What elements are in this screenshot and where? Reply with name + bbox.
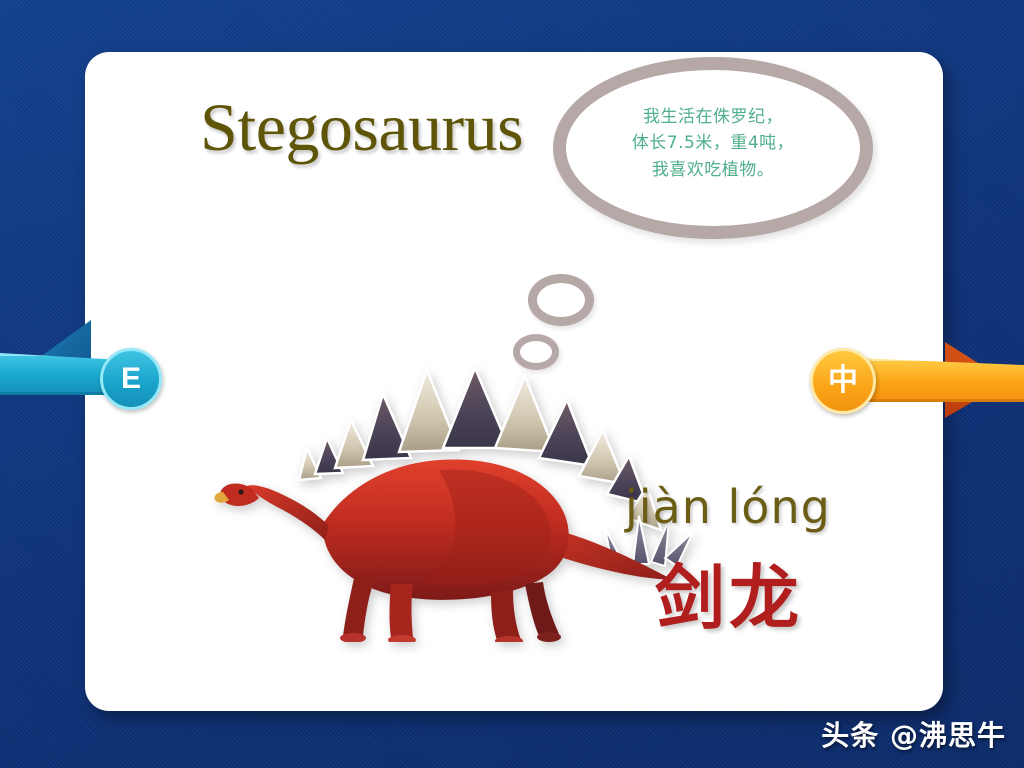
chinese-badge-label: 中 [828,366,858,396]
language-ribbon-chinese[interactable]: 中 [805,340,1024,426]
language-ribbon-english[interactable]: E [0,320,180,410]
thought-bubble-text: 我生活在侏罗纪，体长7.5米，重4吨，我喜欢吃植物。 [566,104,860,183]
thought-bubble: 我生活在侏罗纪，体长7.5米，重4吨，我喜欢吃植物。 [553,57,873,239]
thought-bubble-dot-large [528,274,594,326]
watermark: 头条 @沸思牛 [821,714,1006,754]
pinyin-label: jiàn lóng [625,480,831,534]
slide-background: Stegosaurus 我生活在侏罗纪，体长7.5米，重4吨，我喜欢吃植物。 [0,0,1024,768]
chinese-name-label: 剑龙 [655,542,803,643]
chinese-badge-icon[interactable]: 中 [810,348,876,414]
english-badge-label: E [121,364,141,394]
page-title: Stegosaurus [200,92,523,163]
english-badge-icon[interactable]: E [100,348,162,410]
ribbon-right-bar [857,358,1024,402]
